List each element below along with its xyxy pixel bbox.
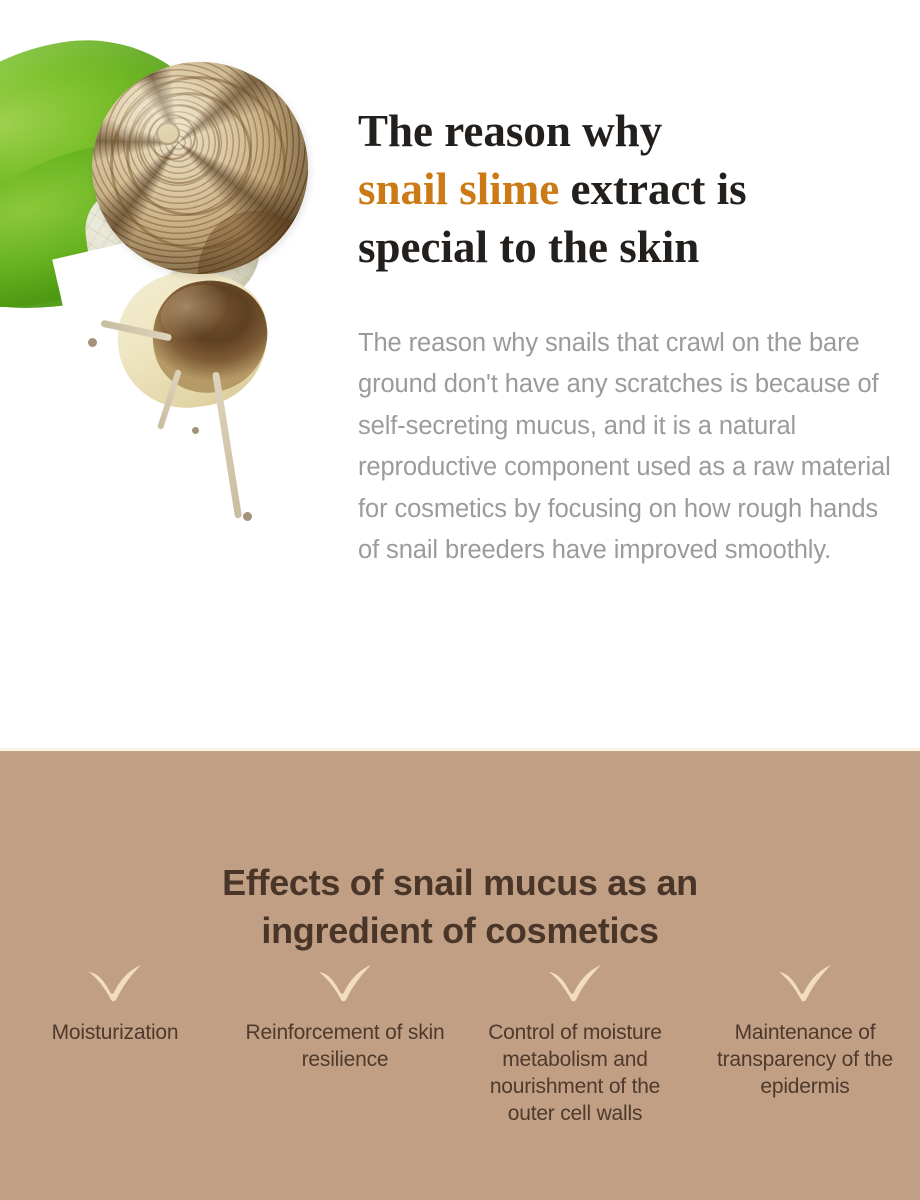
snail-lower-right-tentacle-tip <box>243 512 252 521</box>
snail-on-leaf-photo <box>0 0 350 560</box>
effect-label: Control of moisture metabolism and nouri… <box>460 1019 690 1127</box>
hero-description: The reason why snails that crawl on the … <box>358 323 906 572</box>
effect-item: Reinforcement of skin resilience <box>230 963 460 1073</box>
headline-line-3: special to the skin <box>358 222 699 272</box>
effect-label: Reinforcement of skin resilience <box>230 1019 460 1073</box>
snail-upper-tentacle-tip <box>88 338 97 347</box>
effects-section: Effects of snail mucus as aningredient o… <box>0 751 920 1200</box>
effects-heading: Effects of snail mucus as aningredient o… <box>0 859 920 955</box>
headline-line-2: extract is <box>559 164 746 214</box>
check-icon <box>547 963 603 1003</box>
headline-line-1: The reason why <box>358 106 662 156</box>
product-detail-page: The reason whysnail slime extract isspec… <box>0 0 920 1200</box>
effect-label: Maintenance of transparency of the epide… <box>690 1019 920 1100</box>
effects-heading-line-2: ingredient of cosmetics <box>261 910 658 951</box>
effect-item: Maintenance of transparency of the epide… <box>690 963 920 1100</box>
effect-label: Moisturization <box>46 1019 185 1046</box>
effects-list: Moisturization Reinforcement of skin res… <box>0 963 920 1127</box>
hero-section: The reason whysnail slime extract isspec… <box>0 0 920 750</box>
snail-shell <box>92 62 308 274</box>
effects-heading-line-1: Effects of snail mucus as an <box>222 862 698 903</box>
headline-accent: snail slime <box>358 164 559 214</box>
check-icon <box>87 963 143 1003</box>
shell-highlight <box>114 78 224 158</box>
effect-item: Moisturization <box>0 963 230 1046</box>
check-icon <box>777 963 833 1003</box>
effect-item: Control of moisture metabolism and nouri… <box>460 963 690 1127</box>
snail-lower-left-tentacle-tip <box>192 427 199 434</box>
page-title: The reason whysnail slime extract isspec… <box>358 102 898 276</box>
check-icon <box>317 963 373 1003</box>
